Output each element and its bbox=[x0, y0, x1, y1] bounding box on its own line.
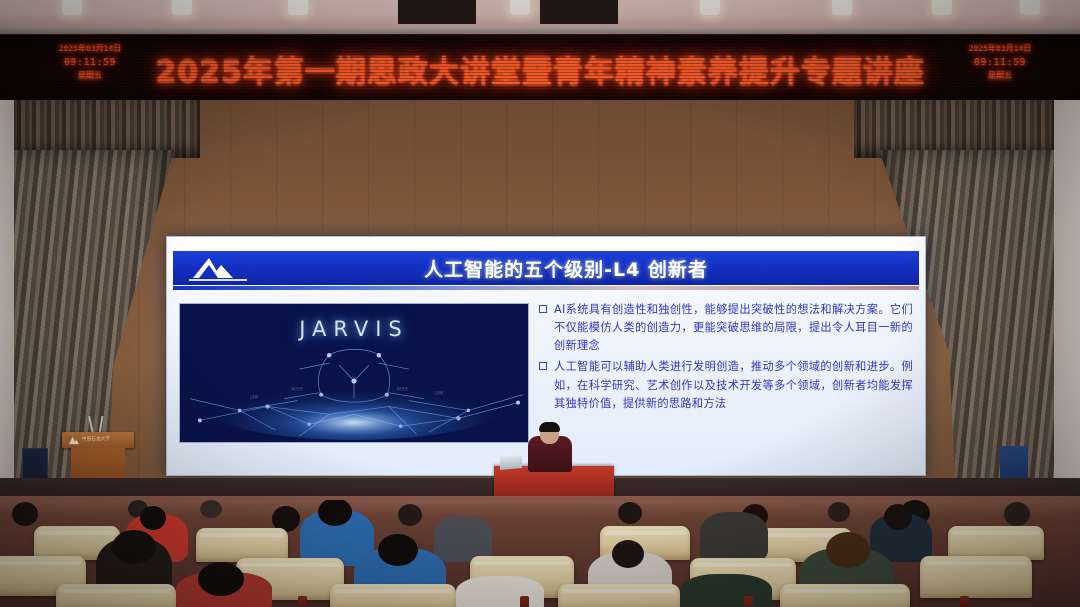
audience-head bbox=[200, 500, 222, 518]
svg-text:NODE: NODE bbox=[397, 387, 409, 392]
audience-head bbox=[378, 534, 418, 566]
auditorium-scene: 2025年03月14日 09:11:59 星期五 2025年第一期思政大讲堂暨青… bbox=[0, 0, 1080, 607]
led-banner: 2025年03月14日 09:11:59 星期五 2025年第一期思政大讲堂暨青… bbox=[0, 34, 1080, 102]
seat-armrest bbox=[744, 596, 753, 607]
seat-armrest bbox=[298, 596, 307, 607]
ceiling-recess bbox=[540, 0, 618, 24]
banner-title: 2025年第一期思政大讲堂暨青年精神素养提升专题讲座 bbox=[128, 47, 952, 91]
svg-text:NODE: NODE bbox=[291, 387, 303, 392]
svg-text:LINK: LINK bbox=[250, 395, 259, 400]
presenter-laptop bbox=[500, 455, 522, 470]
audience-head bbox=[618, 502, 642, 524]
slide-bullet-list: AI系统具有创造性和独创性，能够提出突破性的想法和解决方案。它们不仅能模仿人类的… bbox=[539, 301, 913, 416]
square-bullet-icon bbox=[539, 305, 547, 313]
audience-person bbox=[456, 576, 544, 607]
slide-bullet-text: 人工智能可以辅助人类进行发明创造，推动多个领域的创新和进步。例如，在科学研究、艺… bbox=[554, 358, 913, 412]
led-weekday: 星期五 bbox=[958, 70, 1042, 82]
square-bullet-icon bbox=[539, 362, 547, 370]
led-time: 09:11:59 bbox=[48, 55, 132, 70]
mountain-logo bbox=[68, 435, 79, 445]
ceiling-light bbox=[62, 0, 82, 15]
led-date: 2025年03月14日 bbox=[958, 43, 1042, 55]
ceiling-light bbox=[288, 0, 308, 15]
audience-head bbox=[140, 506, 166, 530]
audience-head bbox=[398, 504, 422, 526]
audience-seat bbox=[558, 584, 680, 607]
audience-seat bbox=[948, 526, 1044, 560]
ceiling-light bbox=[700, 0, 720, 15]
audience-seat bbox=[330, 584, 456, 607]
slide-title-bar: 人工智能的五个级别-L4 创新者 bbox=[173, 251, 919, 285]
lectern-top: 中国石油大学 bbox=[62, 432, 134, 448]
audience-area bbox=[0, 500, 1080, 607]
svg-text:LINK: LINK bbox=[435, 391, 444, 396]
slide-bullet-item: AI系统具有创造性和独创性，能够提出突破性的想法和解决方案。它们不仅能模仿人类的… bbox=[539, 301, 913, 355]
slide-bullet-item: 人工智能可以辅助人类进行发明创造，推动多个领域的创新和进步。例如，在科学研究、艺… bbox=[539, 358, 913, 412]
slide-title: 人工智能的五个级别-L4 创新者 bbox=[173, 255, 919, 282]
led-weekday: 星期五 bbox=[48, 70, 132, 82]
ceiling-light bbox=[1020, 0, 1040, 15]
led-clock-left: 2025年03月14日 09:11:59 星期五 bbox=[48, 43, 132, 82]
mountain-logo bbox=[187, 254, 257, 282]
ceiling-recess bbox=[398, 0, 476, 24]
audience-seat bbox=[56, 584, 176, 607]
seat-armrest bbox=[520, 596, 529, 607]
audience-person bbox=[700, 512, 768, 562]
led-date: 2025年03月14日 bbox=[48, 43, 132, 55]
audience-head bbox=[112, 530, 156, 564]
ceiling-light bbox=[932, 0, 952, 15]
ceiling-light bbox=[510, 0, 530, 15]
audience-head bbox=[826, 532, 870, 568]
curtain-pelmet-right bbox=[854, 100, 1054, 158]
audience-head bbox=[612, 540, 644, 568]
audience-seat bbox=[920, 556, 1032, 598]
audience-seat bbox=[780, 584, 910, 607]
slide-image-jarvis: NODE NODE LINK LINK JARVIS bbox=[179, 303, 529, 443]
audience-seat bbox=[196, 528, 288, 562]
ceiling-light bbox=[172, 0, 192, 15]
seat-armrest bbox=[960, 596, 969, 607]
ceiling bbox=[0, 0, 1080, 26]
lectern-label: 中国石油大学 bbox=[82, 436, 110, 442]
slide-bullet-text: AI系统具有创造性和独创性，能够提出突破性的想法和解决方案。它们不仅能模仿人类的… bbox=[554, 301, 913, 355]
presenter-hair bbox=[539, 422, 560, 432]
audience-head bbox=[828, 502, 850, 522]
curtain-pelmet-left bbox=[14, 100, 200, 158]
audience-head bbox=[1004, 502, 1030, 526]
jarvis-label: JARVIS bbox=[180, 317, 528, 341]
audience-head bbox=[884, 504, 912, 530]
audience-person bbox=[680, 574, 772, 607]
ceiling-edge bbox=[0, 26, 1080, 34]
audience-head bbox=[198, 562, 244, 596]
ceiling-light bbox=[832, 0, 852, 15]
audience-head bbox=[12, 502, 38, 526]
led-time: 09:11:59 bbox=[958, 55, 1042, 70]
led-clock-right: 2025年03月14日 09:11:59 星期五 bbox=[958, 43, 1042, 82]
